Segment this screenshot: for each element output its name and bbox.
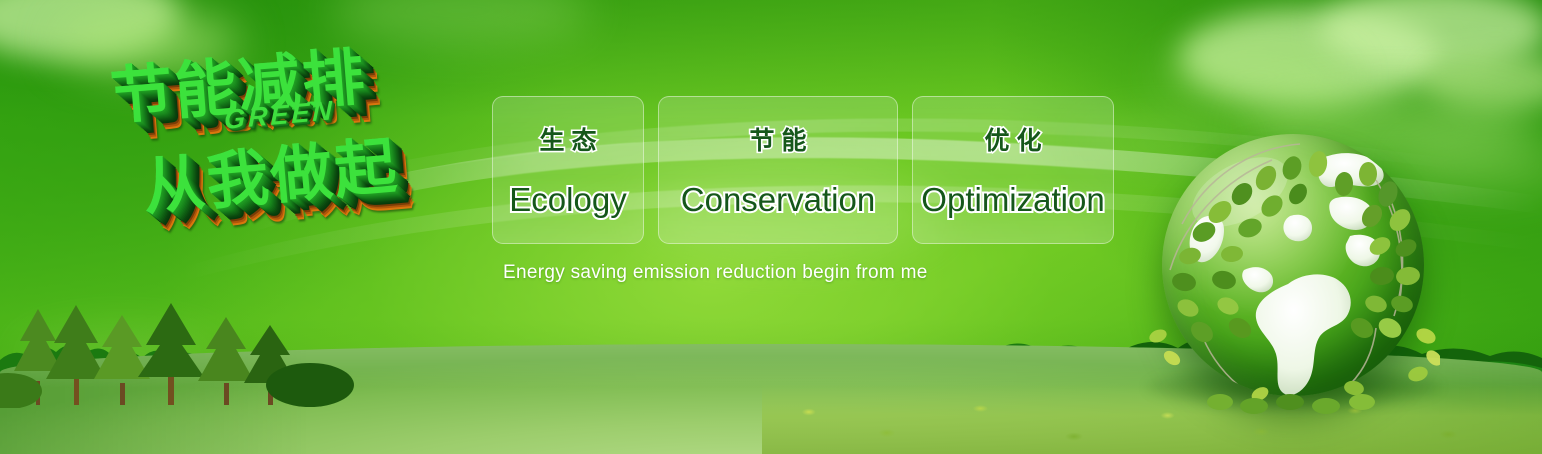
feature-card-cn-label: 节能 [742, 121, 813, 157]
logo-char: 节 [107, 41, 178, 136]
feature-card-cn-label: 生态 [532, 121, 603, 157]
feature-card-en-label: Optimization [921, 181, 1104, 219]
logo-char: 起 [330, 115, 402, 210]
pine-trees-icon [0, 303, 360, 408]
feature-card-cn-label: 优化 [977, 121, 1048, 157]
globe-detail [1140, 120, 1440, 440]
feature-card-en-label: Ecology [509, 181, 626, 219]
feature-card-en-label: Conservation [681, 181, 875, 219]
feature-card-conservation[interactable]: 节能 Conservation [658, 96, 898, 244]
feature-cards: 生态 Ecology 节能 Conservation 优化 Optimizati… [492, 96, 1114, 244]
logo-char: 我 [202, 126, 274, 221]
leafy-earth-globe [1140, 120, 1440, 440]
logo-char: 从 [139, 132, 211, 227]
logo-char: 做 [266, 121, 338, 216]
logo-line-2: 从我做起 [139, 115, 402, 227]
energy-saving-3d-logo: 节能减排 GREEN 从我做起 [96, 34, 496, 264]
feature-card-optimization[interactable]: 优化 Optimization [912, 96, 1114, 244]
green-energy-banner: 节能减排 GREEN 从我做起 生态 Ecology 节能 Conservati… [0, 0, 1542, 454]
feature-card-ecology[interactable]: 生态 Ecology [492, 96, 644, 244]
banner-tagline: Energy saving emission reduction begin f… [503, 262, 928, 284]
